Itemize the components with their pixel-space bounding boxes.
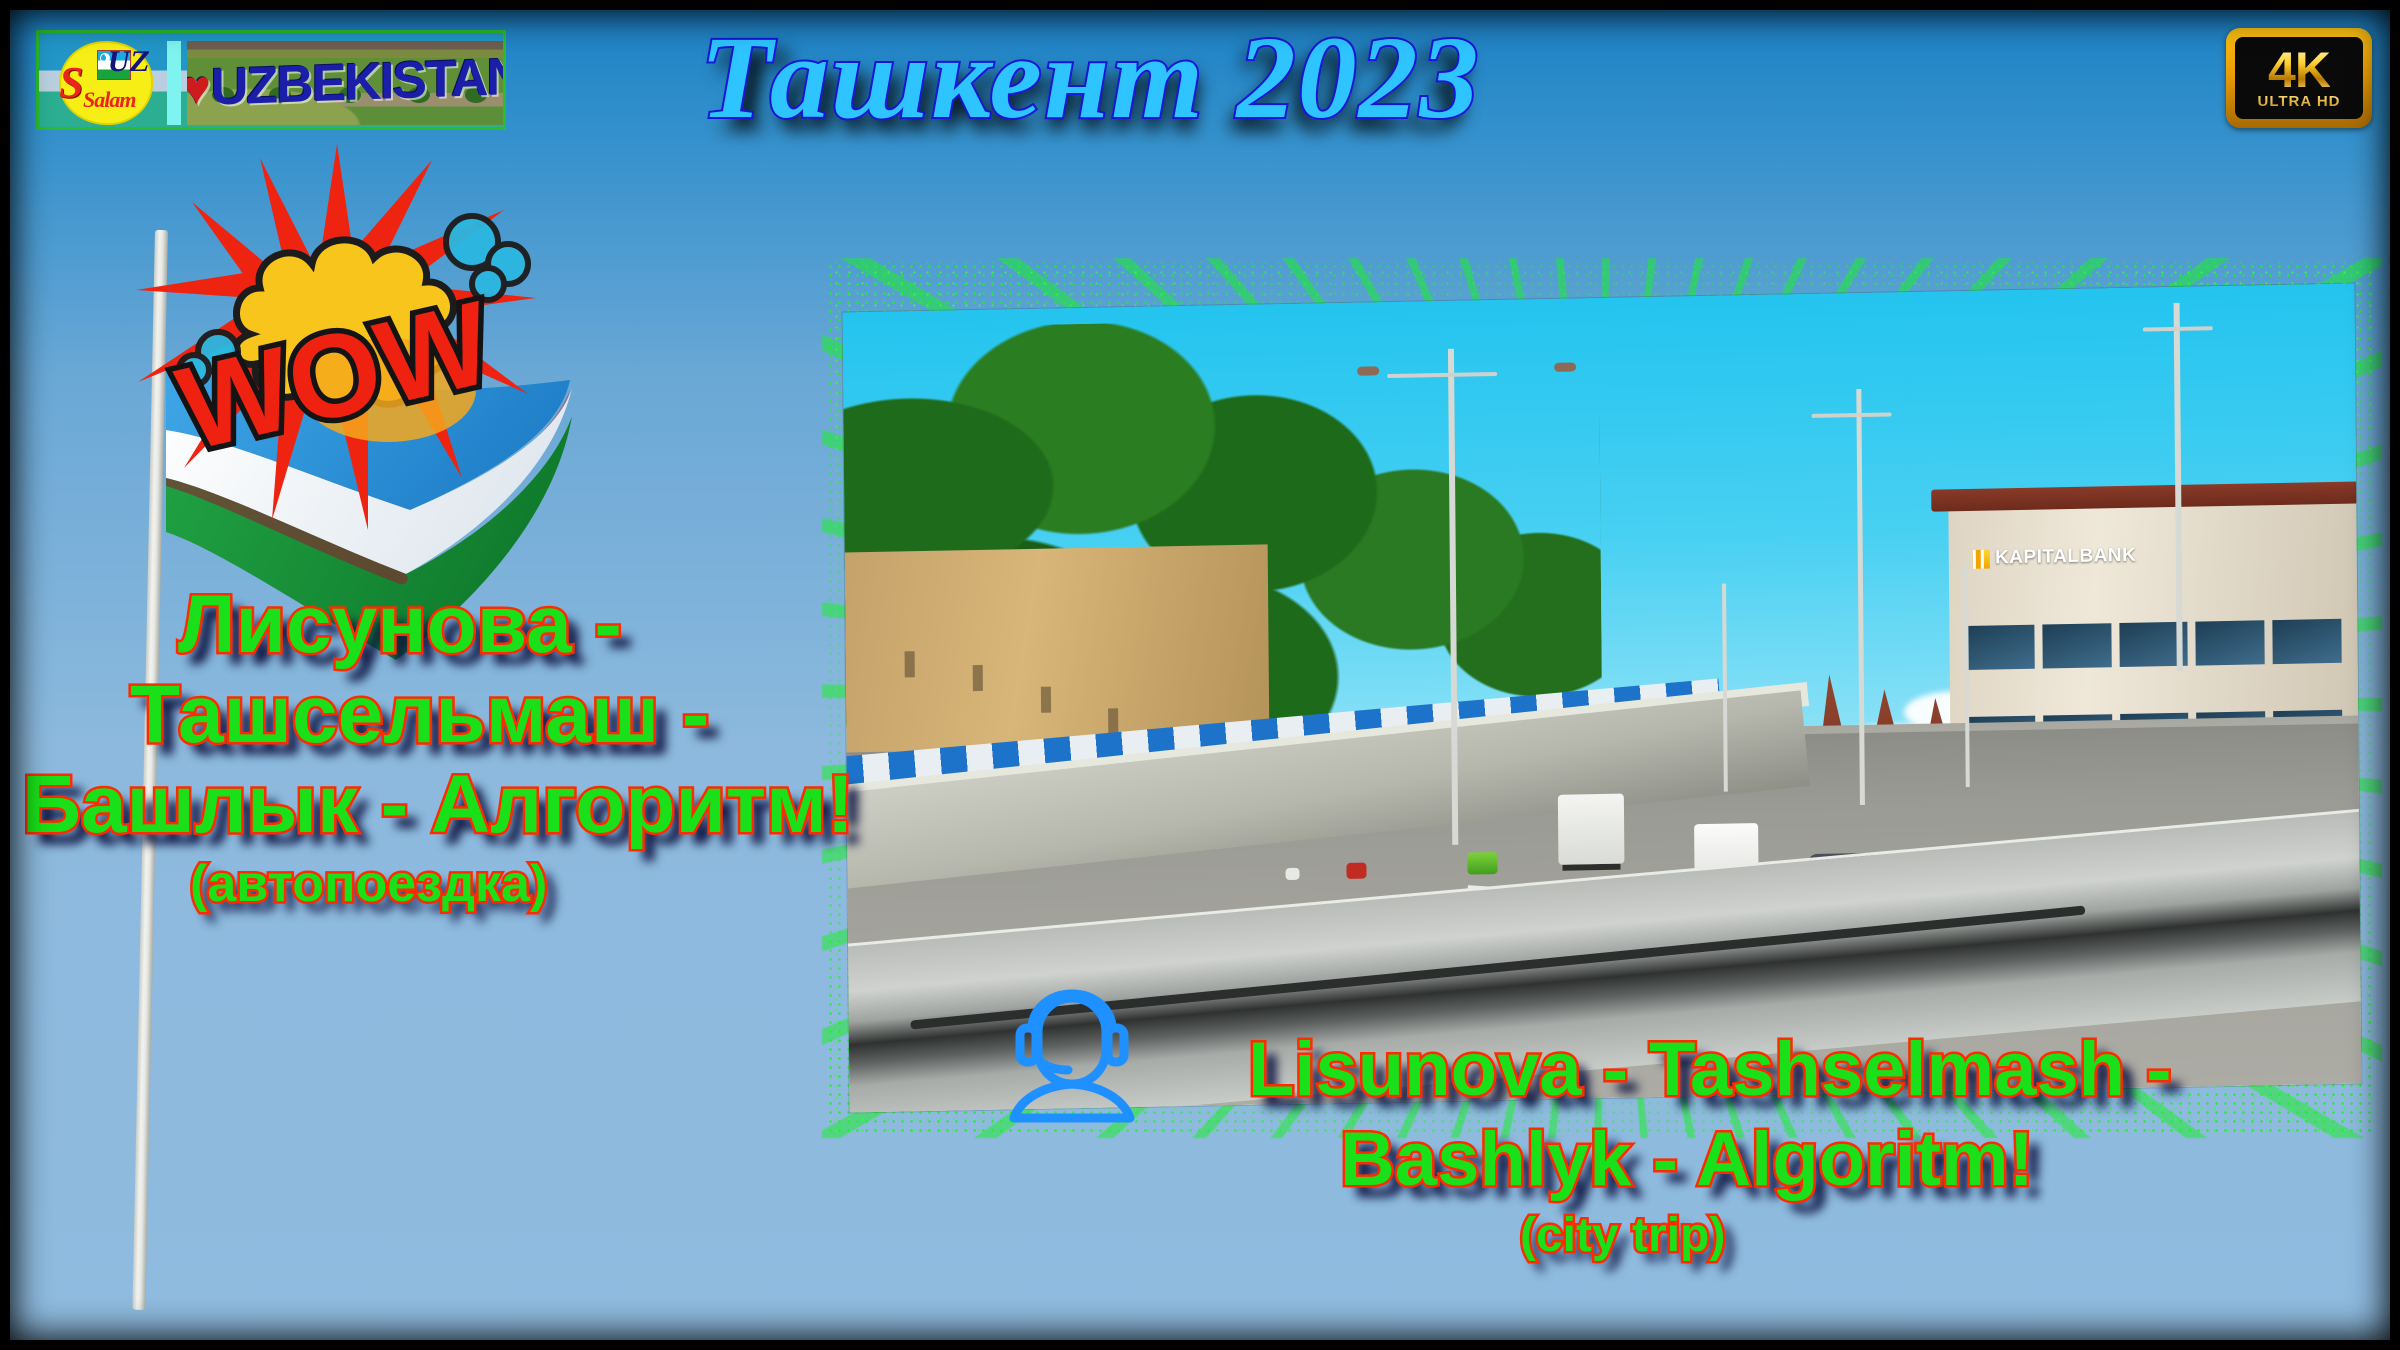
4k-ultra-hd-badge: 4K ULTRA HD: [2226, 28, 2372, 128]
green-minibus: [1467, 852, 1497, 875]
caption-ru-line3: Башлык - Алгоритм!: [22, 758, 854, 852]
caption-en-line3: (city trip): [1520, 1208, 1725, 1263]
caption-en-line2: Bashlyk - Algoritm!: [1340, 1116, 2034, 1203]
caption-en-line1: Lisunova - Tashselmash -: [1248, 1026, 2172, 1113]
caption-ru-line1: Лисунова -: [178, 578, 622, 672]
logo-divider: [167, 41, 181, 125]
page-title: Ташкент 2023 Ташкент 2023: [700, 8, 2180, 148]
building-roof: [1932, 481, 2362, 511]
lamp-head: [1554, 362, 1576, 371]
lamp-arm: [2143, 326, 2213, 331]
channel-logo-strip: UZ S Salam I ♥ UZBEKISTAN: [36, 30, 506, 130]
title-text: Ташкент 2023: [700, 10, 1481, 146]
kapitalbank-sign: KAPITALBANK: [1973, 545, 2136, 570]
bank-name: KAPITALBANK: [1995, 545, 2136, 570]
logo-s-letter: S: [59, 57, 83, 108]
badge-ultrahd-label: ULTRA HD: [2258, 93, 2341, 110]
wow-sticker: WOW: [132, 138, 542, 538]
box-truck: [1557, 794, 1624, 865]
window-row: [1965, 619, 2341, 670]
banner-country: UZBEKISTAN: [211, 47, 503, 118]
bank-logo-mark: [1973, 549, 1990, 568]
logo-word: Salam: [83, 87, 135, 113]
logo-uz-letters: UZ: [105, 45, 153, 79]
salam-uz-logo: UZ S Salam: [45, 35, 167, 131]
i-love-uzbekistan-banner: I ♥ UZBEKISTAN: [187, 41, 503, 125]
banner-text: I ♥ UZBEKISTAN: [187, 41, 503, 125]
caption-ru-line2: Ташсельмаш -: [130, 668, 709, 762]
red-car: [1346, 863, 1366, 879]
distant-car: [1286, 868, 1300, 880]
badge-4k-label: 4K: [2268, 47, 2330, 93]
caption-ru-line4: (автопоездка): [190, 854, 547, 914]
street-lamp: [1722, 584, 1728, 792]
lamp-head: [1357, 366, 1379, 375]
badge-inner: 4K ULTRA HD: [2235, 37, 2363, 119]
thumbnail-canvas: UZ S Salam I ♥ UZBEKISTAN Ташкент 2023 Т…: [0, 0, 2400, 1350]
headset-operator-icon: [988, 966, 1156, 1126]
lamp-arm: [1811, 412, 1891, 418]
heart-icon: ♥: [187, 60, 209, 116]
